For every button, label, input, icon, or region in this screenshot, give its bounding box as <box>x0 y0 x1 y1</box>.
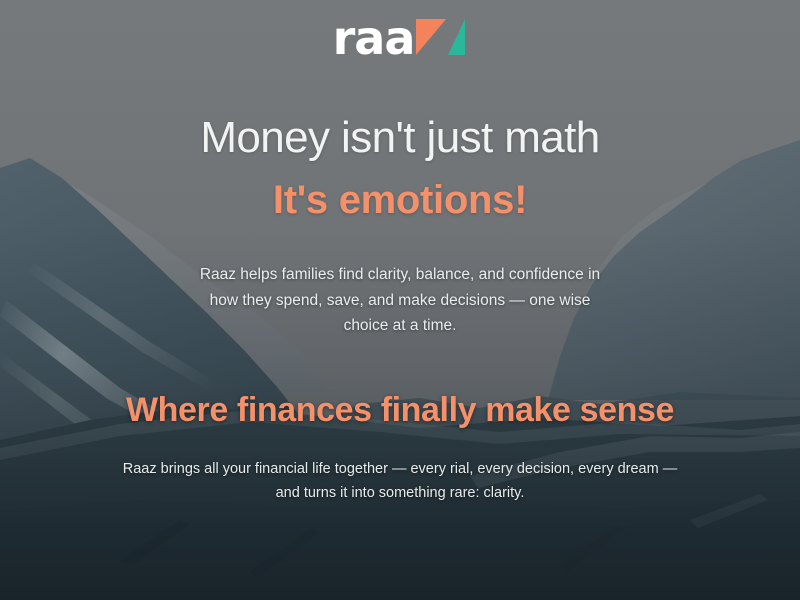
lede-paragraph: Raaz helps families find clarity, balanc… <box>190 262 610 337</box>
brand-logo[interactable]: raa <box>333 14 468 62</box>
headline-accent: It's emotions! <box>200 178 599 222</box>
hero-banner: raa Money isn't just math It's emotions!… <box>0 0 800 600</box>
brand-wordmark: raa <box>333 15 415 61</box>
closing-paragraph: Raaz brings all your financial life toge… <box>110 457 690 506</box>
headline-block: Money isn't just math It's emotions! <box>200 114 599 222</box>
headline-primary: Money isn't just math <box>200 114 599 162</box>
secondary-heading: Where finances finally make sense <box>126 392 674 429</box>
raaz-triangle-mark-icon <box>415 16 467 63</box>
hero-content: raa Money isn't just math It's emotions!… <box>0 0 800 600</box>
